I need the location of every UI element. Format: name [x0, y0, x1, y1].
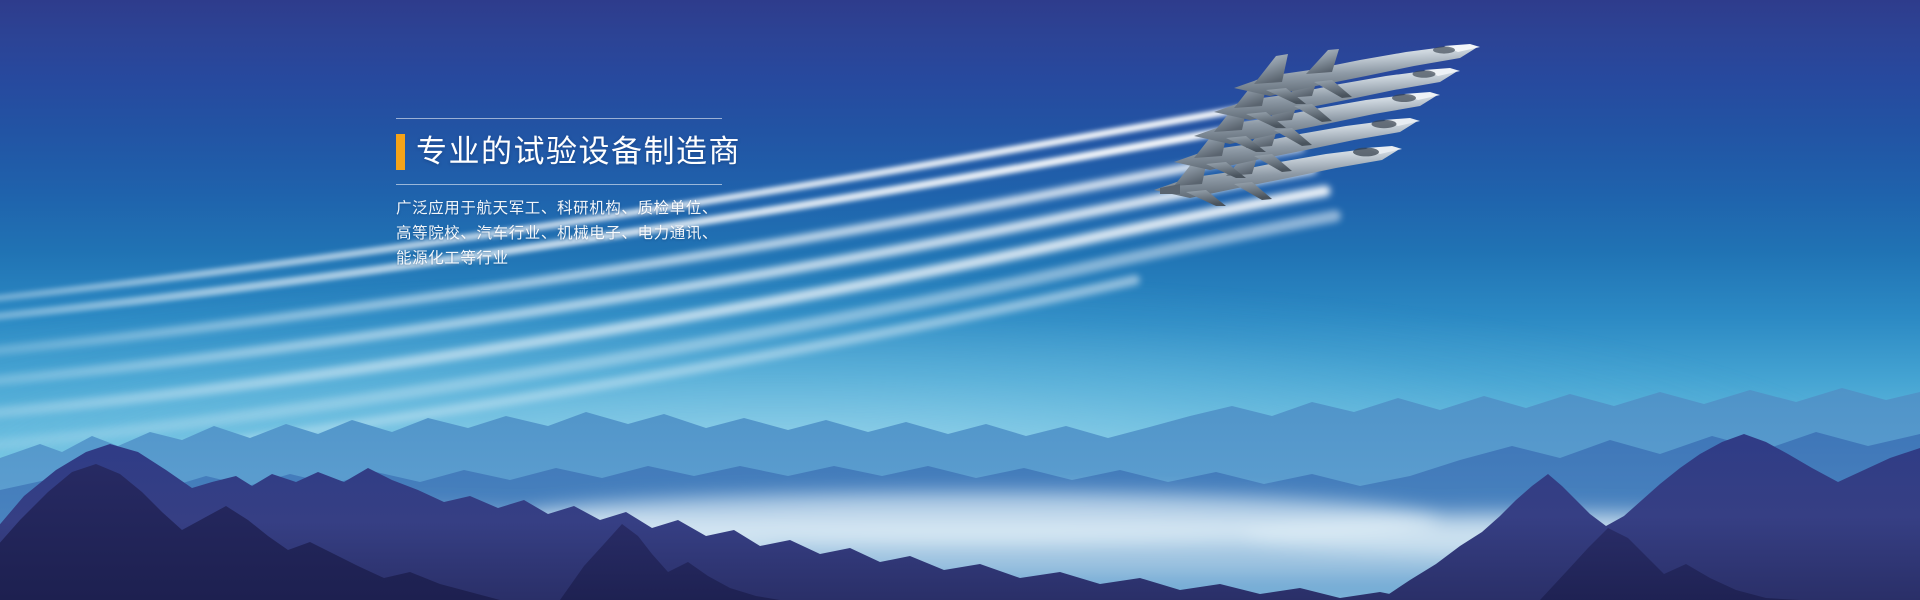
subcopy-line-1: 广泛应用于航天军工、科研机构、质检单位、 — [396, 196, 740, 221]
banner-copy: 专业的试验设备制造商 广泛应用于航天军工、科研机构、质检单位、 高等院校、汽车行… — [390, 118, 740, 271]
accent-bar — [396, 134, 405, 170]
jet-formation — [1130, 40, 1510, 280]
banner-subcopy: 广泛应用于航天军工、科研机构、质检单位、 高等院校、汽车行业、机械电子、电力通讯… — [396, 196, 740, 271]
subcopy-line-2: 高等院校、汽车行业、机械电子、电力通讯、 — [396, 221, 740, 246]
page-title: 专业的试验设备制造商 — [416, 137, 741, 168]
subcopy-line-3: 能源化工等行业 — [396, 246, 740, 271]
hero-banner: 专业的试验设备制造商 广泛应用于航天军工、科研机构、质检单位、 高等院校、汽车行… — [0, 0, 1920, 600]
divider-bottom — [396, 184, 722, 185]
divider-top — [396, 118, 722, 119]
mountain-range — [0, 340, 1920, 600]
headline-row: 专业的试验设备制造商 — [390, 128, 740, 176]
